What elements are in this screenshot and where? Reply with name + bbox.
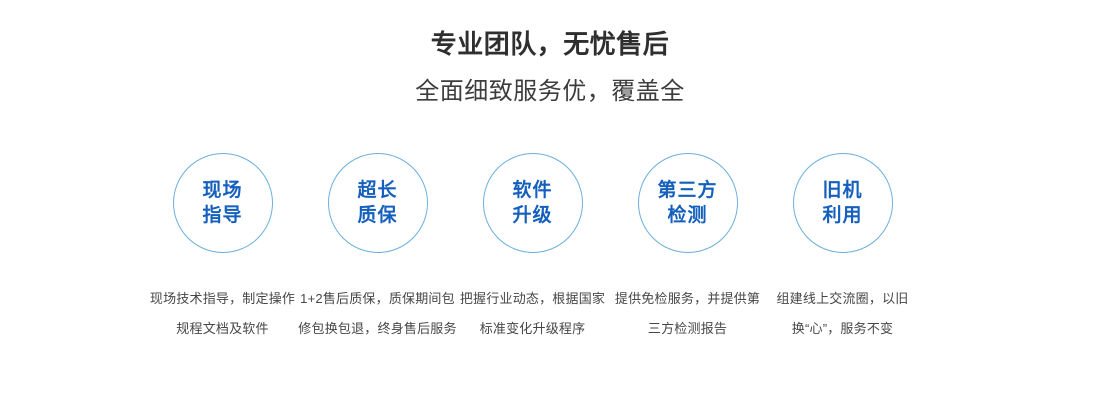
feature-caption-4: 提供免检服务，并提供第 三方检测报告 [608,284,768,344]
feature-item-4[interactable]: 第三方 检测 提供免检服务，并提供第 三方检测报告 [610,153,765,253]
feature-caption-line-3a: 把握行业动态，根据国家 [453,284,613,314]
feature-circle-row: 现场 指导 现场技术指导，制定操作 规程文档及软件 超长 质保 1+2售后质保，… [0,0,1100,404]
feature-caption-line-4b: 三方检测报告 [608,314,768,344]
feature-caption-3: 把握行业动态，根据国家 标准变化升级程序 [453,284,613,344]
feature-badge-line-2b: 质保 [357,203,397,228]
feature-badge-line-4b: 检测 [667,203,707,228]
feature-caption-line-5a: 组建线上交流圈，以旧 [763,284,923,314]
feature-badge-5[interactable]: 旧机 利用 [793,153,893,253]
feature-item-3[interactable]: 软件 升级 把握行业动态，根据国家 标准变化升级程序 [455,153,610,253]
service-promise-section: 专业团队，无忧售后 全面细致服务优，覆盖全 现场 指导 现场技术指导，制定操作 … [0,0,1100,404]
feature-badge-line-1b: 指导 [202,203,242,228]
feature-badge-line-3b: 升级 [512,203,552,228]
feature-caption-line-2a: 1+2售后质保，质保期间包 [298,284,458,314]
feature-caption-line-4a: 提供免检服务，并提供第 [608,284,768,314]
feature-caption-2: 1+2售后质保，质保期间包 修包换包退，终身售后服务 [298,284,458,344]
feature-caption-1: 现场技术指导，制定操作 规程文档及软件 [143,284,303,344]
feature-badge-line-1a: 现场 [202,178,242,203]
feature-caption-line-2b: 修包换包退，终身售后服务 [298,314,458,344]
feature-caption-5: 组建线上交流圈，以旧 换“心”，服务不变 [763,284,923,344]
feature-badge-4[interactable]: 第三方 检测 [638,153,738,253]
feature-caption-line-1a: 现场技术指导，制定操作 [143,284,303,314]
feature-badge-3[interactable]: 软件 升级 [483,153,583,253]
feature-badge-1[interactable]: 现场 指导 [173,153,273,253]
feature-caption-line-1b: 规程文档及软件 [143,314,303,344]
feature-caption-line-5b: 换“心”，服务不变 [763,314,923,344]
feature-badge-line-5b: 利用 [822,203,862,228]
feature-item-5[interactable]: 旧机 利用 组建线上交流圈，以旧 换“心”，服务不变 [765,153,920,253]
feature-item-1[interactable]: 现场 指导 现场技术指导，制定操作 规程文档及软件 [145,153,300,253]
feature-badge-2[interactable]: 超长 质保 [328,153,428,253]
feature-badge-line-5a: 旧机 [822,178,862,203]
feature-caption-line-3b: 标准变化升级程序 [453,314,613,344]
feature-badge-line-4a: 第三方 [657,178,717,203]
feature-item-2[interactable]: 超长 质保 1+2售后质保，质保期间包 修包换包退，终身售后服务 [300,153,455,253]
feature-badge-line-2a: 超长 [357,178,397,203]
feature-badge-line-3a: 软件 [512,178,552,203]
